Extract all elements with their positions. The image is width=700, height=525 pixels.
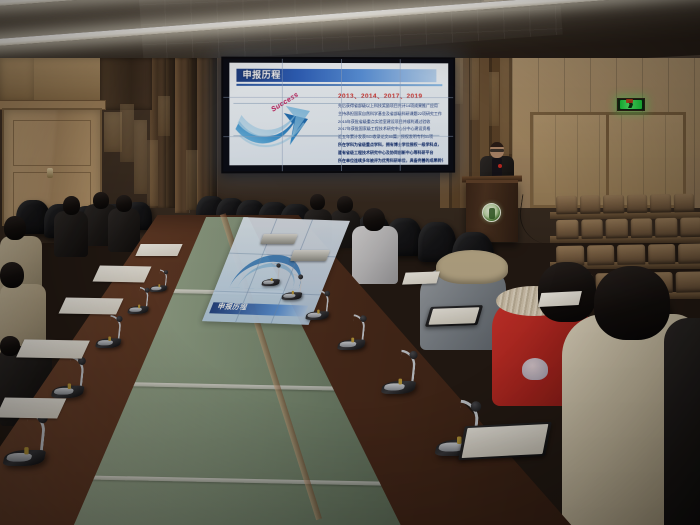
slide-bullet: 2017年获批国家级工程技术研究中心分中心建设资格 — [338, 126, 443, 131]
exit-sign — [617, 98, 645, 111]
slide-bullet: 近五年累计发表SCI收录论文86篇，授权发明专利31项 — [338, 134, 443, 140]
auditorium-seat — [673, 194, 694, 213]
door-handle-icon[interactable] — [47, 168, 53, 178]
slide-footnote: 建有省级工程技术研究中心及协同创新中心等科研平台 — [338, 150, 443, 156]
slide-title: 申报历程 — [243, 69, 281, 82]
open-binder[interactable] — [425, 305, 483, 327]
slide-bullet: 2015年获批省级重点实验室建设项目并顺利通过验收 — [338, 119, 443, 124]
paper-stack[interactable] — [16, 339, 90, 358]
door-seam — [606, 114, 609, 206]
auditorium-seat — [556, 196, 577, 215]
slide-footnote: 所在单位连续多年被评为优秀科研单位，具备完善的成果转化 — [338, 157, 443, 163]
open-binder[interactable] — [458, 422, 552, 460]
presenter-badge — [498, 164, 502, 168]
eyeglasses-icon — [490, 149, 504, 152]
auditorium-seat — [650, 194, 671, 213]
gooseneck-conference-microphone[interactable] — [338, 310, 367, 350]
ceiling-tile-grid — [137, 0, 562, 65]
slide-bullet: 先后获得省部级以上科技奖励项目共计14项成果推广应用 — [338, 103, 443, 108]
document-sheet[interactable] — [538, 291, 582, 307]
presentation-slide: 申报历程 — [229, 63, 448, 166]
gooseneck-conference-microphone[interactable] — [382, 344, 417, 394]
gooseneck-conference-microphone[interactable] — [96, 311, 122, 348]
paper-stack[interactable] — [93, 266, 152, 283]
auditorium-seat — [626, 194, 647, 213]
conference-table — [0, 215, 700, 525]
gooseneck-conference-microphone[interactable] — [262, 260, 281, 286]
reflection-title-text: 申报历程 — [215, 302, 248, 313]
slide-footnote: 所在学科为省级重点学科，拥有博士学位授权一级学科点， — [338, 142, 443, 148]
led-video-wall[interactable]: 申报历程 — [221, 57, 455, 174]
paper-stack[interactable] — [0, 397, 66, 418]
conference-room-photo: 申报历程 — [0, 0, 700, 525]
slide-bullet: 主持承担国家自然科学基金及省部级科研课题22项研究工作 — [338, 111, 443, 116]
document-sheet[interactable] — [402, 271, 440, 284]
gooseneck-conference-microphone[interactable] — [306, 286, 330, 320]
auditorium-seat — [603, 195, 624, 214]
gooseneck-conference-microphone[interactable] — [128, 284, 150, 314]
slide-title-underline — [236, 84, 442, 86]
auditorium-seat — [579, 195, 600, 214]
gooseneck-conference-microphone[interactable] — [282, 271, 303, 300]
paper-stack[interactable] — [135, 244, 182, 256]
nameplate — [290, 250, 330, 261]
nameplate — [260, 234, 298, 244]
paper-stack[interactable] — [59, 297, 124, 314]
slide-body-text: 2013、2014、2017、2019 先后获得省部级以上科技奖励项目共计14项… — [338, 90, 443, 165]
gooseneck-conference-microphone[interactable] — [150, 267, 168, 292]
slide-years-header: 2013、2014、2017、2019 — [338, 90, 443, 100]
